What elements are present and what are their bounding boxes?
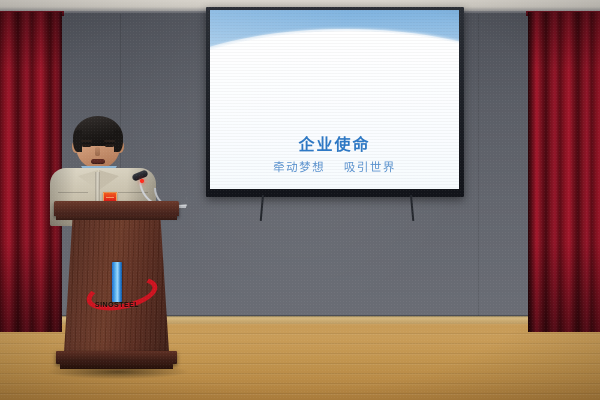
- slide-subtitle: 牵动梦想 吸引世界: [210, 159, 459, 175]
- presentation-room-photo: 企业使命 牵动梦想 吸引世界: [0, 0, 600, 400]
- slide-title: 企业使命: [210, 136, 459, 155]
- eyebrow-left: [81, 140, 92, 142]
- projection-screen-unit: 企业使命 牵动梦想 吸引世界: [206, 7, 464, 197]
- wall-seam-right: [478, 14, 479, 319]
- screen-surface: 企业使命 牵动梦想 吸引世界: [210, 10, 459, 189]
- wooden-podium: SINOSTEEL: [54, 201, 179, 373]
- logo-wordmark: SINOSTEEL: [86, 302, 148, 309]
- nose: [95, 147, 100, 156]
- logo-blue-bar: [112, 262, 122, 302]
- curtain-right-shading: [528, 12, 600, 332]
- curtain-right: [528, 12, 600, 332]
- slide-text-block: 企业使命 牵动梦想 吸引世界: [210, 136, 459, 175]
- mic-power-led: [140, 179, 144, 183]
- eyebrow-right: [104, 140, 115, 142]
- sinosteel-logo: SINOSTEEL: [86, 261, 148, 309]
- eye-left: [82, 144, 91, 147]
- podium-foot: [60, 362, 173, 369]
- mouth-speaking: [91, 159, 105, 164]
- hair-right-side: [114, 130, 123, 152]
- podium-desktop: [54, 201, 179, 216]
- curtain-right-edge: [528, 12, 536, 332]
- eye-right: [105, 144, 114, 147]
- podium-desktop-edge: [56, 215, 177, 220]
